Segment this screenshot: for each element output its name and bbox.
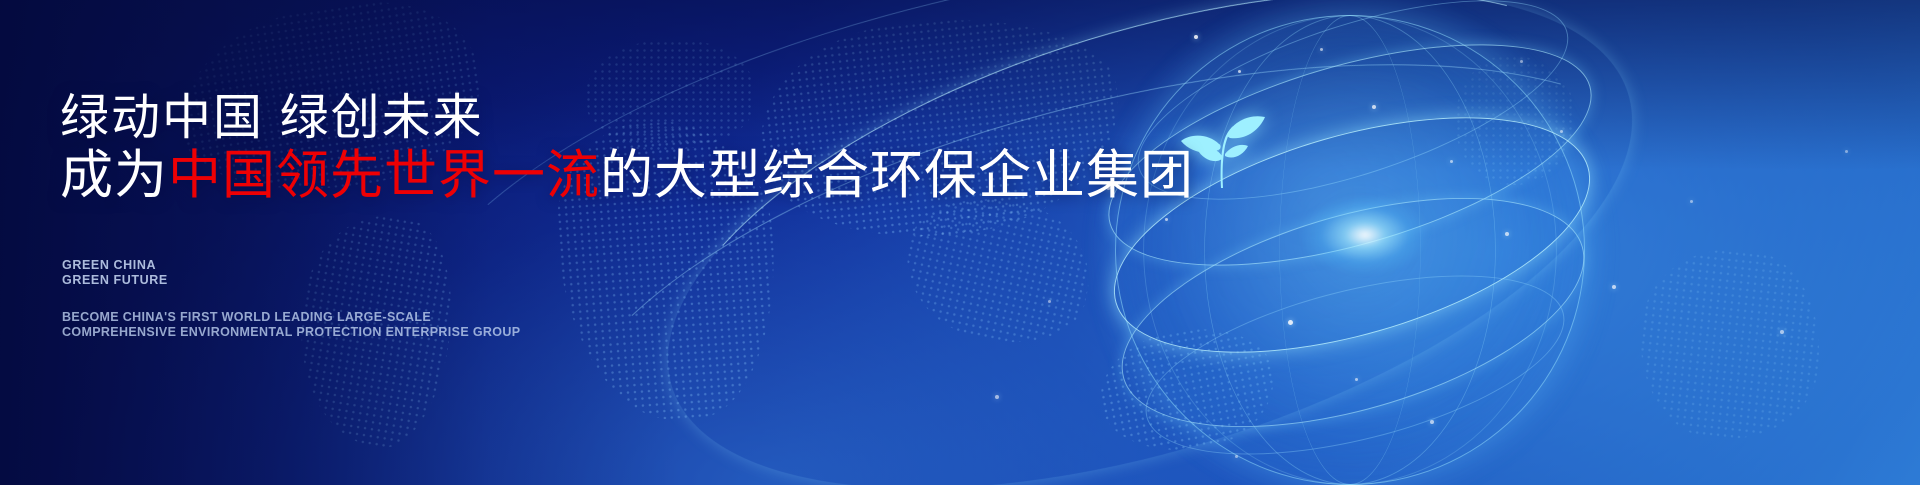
subtitle-english-line-1: GREEN CHINA [62,258,168,273]
tagline-english-line-1: BECOME CHINA'S FIRST WORLD LEADING LARGE… [62,310,520,325]
tagline-english: BECOME CHINA'S FIRST WORLD LEADING LARGE… [62,310,520,340]
hero-banner: 绿动中国 绿创未来 成为中国领先世界一流的大型综合环保企业集团 GREEN CH… [0,0,1920,485]
particle [1372,105,1376,109]
particle [1430,420,1434,424]
headline-line-2: 成为中国领先世界一流的大型综合环保企业集团 [60,133,1194,209]
particle [1780,330,1784,334]
particle [1355,378,1358,381]
particle [1845,150,1848,153]
tagline-english-line-2: COMPREHENSIVE ENVIRONMENTAL PROTECTION E… [62,325,520,340]
headline-highlight: 中国领先世界一流 [168,146,600,205]
particle [1288,320,1293,325]
headline-prefix: 成为 [60,146,168,205]
subtitle-english-line-2: GREEN FUTURE [62,273,168,288]
particle [1505,232,1509,236]
particle [1690,200,1693,203]
banner-copy: 绿动中国 绿创未来 成为中国领先世界一流的大型综合环保企业集团 GREEN CH… [60,0,1060,485]
headline-suffix: 的大型综合环保企业集团 [600,146,1194,205]
particle [1450,160,1453,163]
subtitle-english: GREEN CHINA GREEN FUTURE [62,258,168,288]
particle [1165,218,1168,221]
particle [1194,35,1198,39]
particle [1612,285,1616,289]
particle [1560,130,1563,133]
particle [1520,60,1523,63]
particle [1238,70,1241,73]
particle [1320,48,1323,51]
particle [1235,455,1238,458]
